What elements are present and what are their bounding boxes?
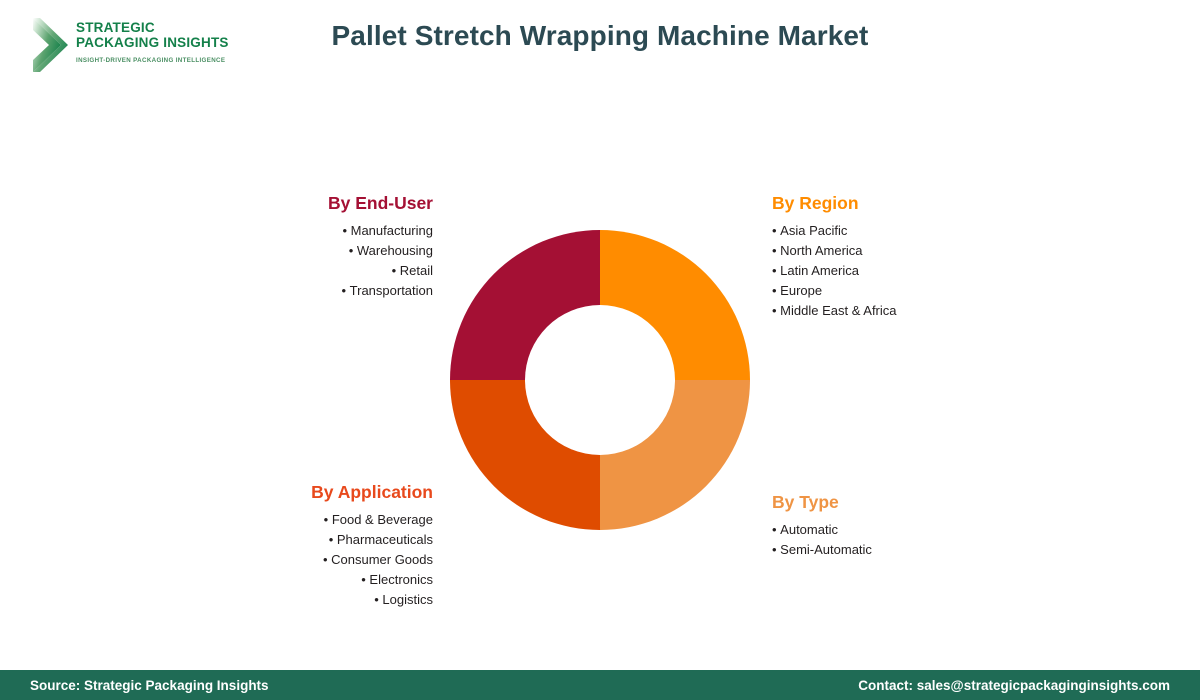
- segment-type-list: Automatic Semi-Automatic: [772, 520, 1032, 560]
- list-item: Automatic: [772, 520, 1032, 540]
- infographic-page: STRATEGIC PACKAGING INSIGHTS INSIGHT-DRI…: [0, 0, 1200, 700]
- list-item: Transportation: [230, 281, 433, 301]
- segment-region-heading: By Region: [772, 193, 1032, 214]
- list-item: Consumer Goods: [185, 550, 433, 570]
- donut-chart: [450, 230, 750, 530]
- list-item: Warehousing: [230, 241, 433, 261]
- donut-center-hole: [525, 305, 675, 455]
- page-title: Pallet Stretch Wrapping Machine Market: [0, 20, 1200, 52]
- list-item: Retail: [230, 261, 433, 281]
- list-item: Semi-Automatic: [772, 540, 1032, 560]
- segment-application-list: Food & Beverage Pharmaceuticals Consumer…: [185, 510, 433, 610]
- segment-application-heading: By Application: [185, 482, 433, 503]
- segment-application: By Application Food & Beverage Pharmaceu…: [185, 482, 433, 610]
- segment-type: By Type Automatic Semi-Automatic: [772, 492, 1032, 560]
- list-item: Logistics: [185, 590, 433, 610]
- list-item: Latin America: [772, 261, 1032, 281]
- list-item: Asia Pacific: [772, 221, 1032, 241]
- segment-type-heading: By Type: [772, 492, 1032, 513]
- segment-region-list: Asia Pacific North America Latin America…: [772, 221, 1032, 321]
- segment-end-user-heading: By End-User: [230, 193, 433, 214]
- list-item: Manufacturing: [230, 221, 433, 241]
- list-item: Electronics: [185, 570, 433, 590]
- list-item: Middle East & Africa: [772, 301, 1032, 321]
- footer-source: Source: Strategic Packaging Insights: [30, 678, 269, 693]
- segment-region: By Region Asia Pacific North America Lat…: [772, 193, 1032, 321]
- list-item: Food & Beverage: [185, 510, 433, 530]
- footer-contact: Contact: sales@strategicpackaginginsight…: [858, 678, 1170, 693]
- logo-tagline: INSIGHT-DRIVEN PACKAGING INTELLIGENCE: [76, 57, 229, 64]
- list-item: Europe: [772, 281, 1032, 301]
- segment-end-user-list: Manufacturing Warehousing Retail Transpo…: [230, 221, 433, 301]
- list-item: North America: [772, 241, 1032, 261]
- footer-bar: Source: Strategic Packaging Insights Con…: [0, 670, 1200, 700]
- segment-end-user: By End-User Manufacturing Warehousing Re…: [230, 193, 433, 301]
- list-item: Pharmaceuticals: [185, 530, 433, 550]
